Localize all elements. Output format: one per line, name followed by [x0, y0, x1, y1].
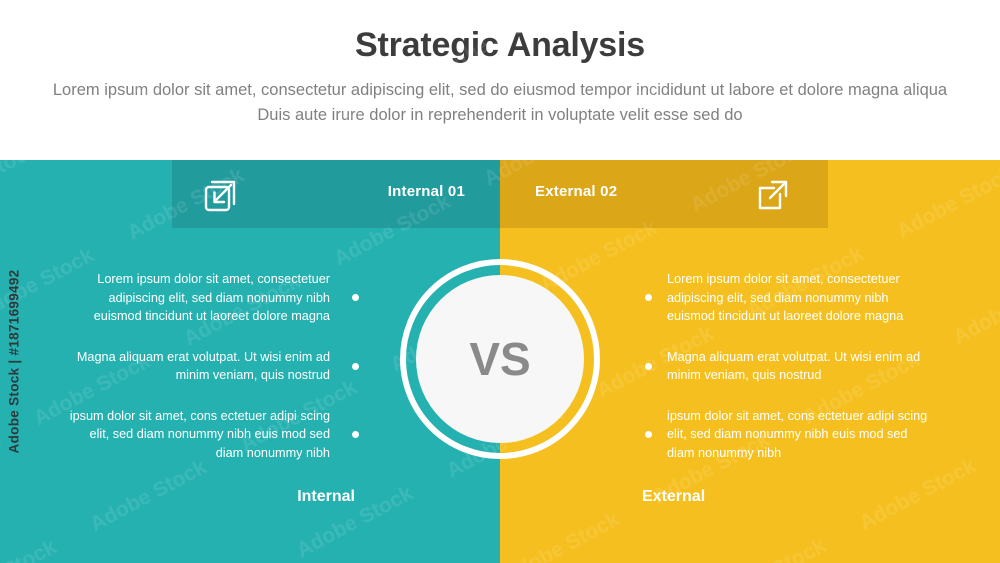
- bullet-text: Magna aliquam erat volutpat. Ut wisi eni…: [68, 348, 330, 385]
- page-title: Strategic Analysis: [0, 26, 1000, 65]
- bullet-text: Magna aliquam erat volutpat. Ut wisi eni…: [667, 348, 929, 385]
- external-band-label: External 02: [535, 183, 695, 200]
- bullet-text: ipsum dolor sit amet, cons ectetuer adip…: [667, 407, 929, 463]
- vs-label: VS: [469, 332, 530, 386]
- list-item: Magna aliquam erat volutpat. Ut wisi eni…: [645, 348, 945, 385]
- page-subtitle: Lorem ipsum dolor sit amet, consectetur …: [40, 78, 960, 128]
- arrow-out-of-box-icon: [750, 172, 796, 218]
- bullet-dot-icon: [645, 363, 652, 370]
- list-item: Lorem ipsum dolor sit amet, consectetuer…: [645, 270, 945, 326]
- internal-footer-label: Internal: [180, 488, 355, 506]
- external-footer-label: External: [642, 488, 817, 506]
- arrow-into-box-icon: [198, 172, 244, 218]
- bullet-text: Lorem ipsum dolor sit amet, consectetuer…: [68, 270, 330, 326]
- bullet-text: Lorem ipsum dolor sit amet, consectetuer…: [667, 270, 929, 326]
- header-section: Strategic Analysis Lorem ipsum dolor sit…: [0, 0, 1000, 160]
- internal-bullet-list: Lorem ipsum dolor sit amet, consectetuer…: [68, 270, 368, 462]
- bullet-dot-icon: [352, 431, 359, 438]
- bullet-dot-icon: [352, 363, 359, 370]
- list-item: ipsum dolor sit amet, cons ectetuer adip…: [645, 407, 945, 463]
- bullet-text: ipsum dolor sit amet, cons ectetuer adip…: [68, 407, 330, 463]
- bullet-dot-icon: [645, 431, 652, 438]
- bullet-dot-icon: [352, 294, 359, 301]
- external-bullet-list: Lorem ipsum dolor sit amet, consectetuer…: [645, 270, 945, 462]
- vs-badge: VS: [400, 259, 600, 459]
- list-item: ipsum dolor sit amet, cons ectetuer adip…: [68, 407, 368, 463]
- vs-inner-disc: VS: [416, 275, 584, 443]
- infographic-canvas: Strategic Analysis Lorem ipsum dolor sit…: [0, 0, 1000, 563]
- list-item: Magna aliquam erat volutpat. Ut wisi eni…: [68, 348, 368, 385]
- bullet-dot-icon: [645, 294, 652, 301]
- list-item: Lorem ipsum dolor sit amet, consectetuer…: [68, 270, 368, 326]
- internal-band-label: Internal 01: [305, 183, 465, 200]
